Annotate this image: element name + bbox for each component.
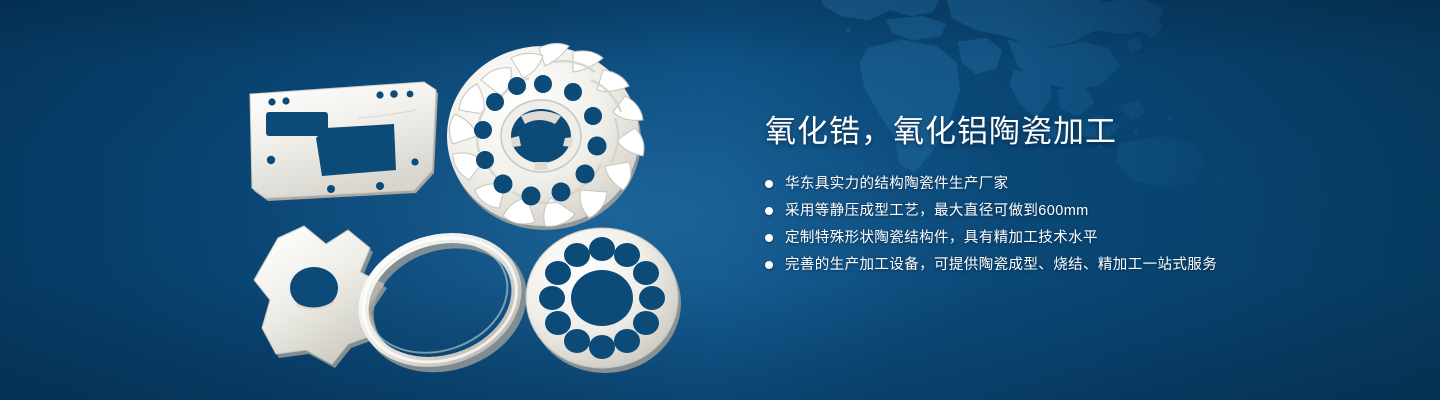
list-item: 定制特殊形状陶瓷结构件，具有精加工技术水平 [765, 226, 1385, 250]
feature-text: 定制特殊形状陶瓷结构件，具有精加工技术水平 [785, 226, 1098, 250]
list-item: 采用等静压成型工艺，最大直径可做到600mm [765, 199, 1385, 223]
feature-text: 采用等静压成型工艺，最大直径可做到600mm [785, 199, 1089, 223]
feature-text: 华东具实力的结构陶瓷件生产厂家 [785, 172, 1009, 196]
banner-headline: 氧化锆，氧化铝陶瓷加工 [765, 112, 1385, 152]
feature-text: 完善的生产加工设备，可提供陶瓷成型、烧结、精加工一站式服务 [785, 253, 1217, 277]
product-ceramic-mounting-plate [246, 78, 442, 200]
product-ceramic-thin-ring [355, 228, 525, 370]
product-ceramic-perforated-disc [518, 222, 686, 374]
list-item: 完善的生产加工设备，可提供陶瓷成型、烧结、精加工一站式服务 [765, 253, 1385, 277]
banner-copy: 氧化锆，氧化铝陶瓷加工 华东具实力的结构陶瓷件生产厂家 采用等静压成型工艺，最大… [765, 112, 1385, 280]
product-ceramic-vaned-impeller [440, 40, 646, 232]
bullet-dot-icon [765, 261, 773, 269]
hero-banner: 氧化锆，氧化铝陶瓷加工 华东具实力的结构陶瓷件生产厂家 采用等静压成型工艺，最大… [0, 0, 1440, 400]
bullet-dot-icon [765, 180, 773, 188]
feature-list: 华东具实力的结构陶瓷件生产厂家 采用等静压成型工艺，最大直径可做到600mm 定… [765, 172, 1385, 277]
list-item: 华东具实力的结构陶瓷件生产厂家 [765, 172, 1385, 196]
bullet-dot-icon [765, 207, 773, 215]
bullet-dot-icon [765, 234, 773, 242]
